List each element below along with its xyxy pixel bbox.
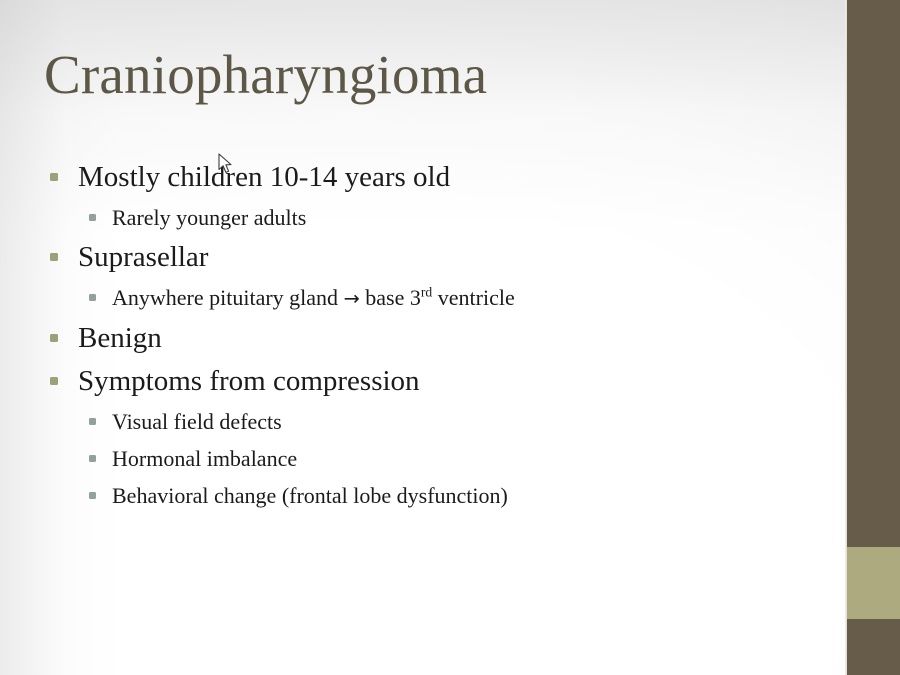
bullet-text-pre: Anywhere pituitary gland [112,285,344,310]
bullet-text: Symptoms from compression [78,365,420,397]
bullet-text: Visual field defects [112,409,282,434]
bullet-item-level2: Anywhere pituitary gland → base 3rd vent… [44,279,814,317]
bullet-text-post: ventricle [432,285,514,310]
bullet-text: Hormonal imbalance [112,446,297,471]
right-arrow-icon: → [344,287,360,310]
bullet-item-level2: Hormonal imbalance [44,440,814,477]
bullet-item-level1: Suprasellar [44,236,814,278]
slide-title: Craniopharyngioma [44,44,487,106]
slide-body-list: Mostly children 10-14 years old Rarely y… [44,156,814,514]
bullet-text: Suprasellar [78,241,208,273]
decorative-sidebar [845,0,900,675]
bullet-marker-icon [50,317,59,359]
sidebar-band-accent [847,547,900,619]
bullet-item-level2: Rarely younger adults [44,199,814,236]
sidebar-band-top [847,0,900,547]
bullet-text: Mostly children 10-14 years old [78,161,450,193]
bullet-item-level1: Benign [44,317,814,359]
bullet-text: Benign [78,322,162,354]
bullet-text: Rarely younger adults [112,205,306,230]
slide-canvas: Craniopharyngioma Mostly children 10-14 … [0,0,900,675]
sidebar-band-bottom [847,619,900,675]
bullet-text: Behavioral change (frontal lobe dysfunct… [112,483,508,508]
bullet-item-level2: Behavioral change (frontal lobe dysfunct… [44,477,814,514]
ordinal-superscript: rd [421,285,432,300]
bullet-item-level1: Mostly children 10-14 years old [44,156,814,198]
bullet-marker-icon [50,236,59,278]
bullet-item-level2: Visual field defects [44,403,814,440]
bullet-item-level1: Symptoms from compression [44,360,814,402]
bullet-marker-icon [50,360,59,402]
bullet-marker-icon [50,156,59,198]
bullet-text-mid: base 3 [360,285,421,310]
